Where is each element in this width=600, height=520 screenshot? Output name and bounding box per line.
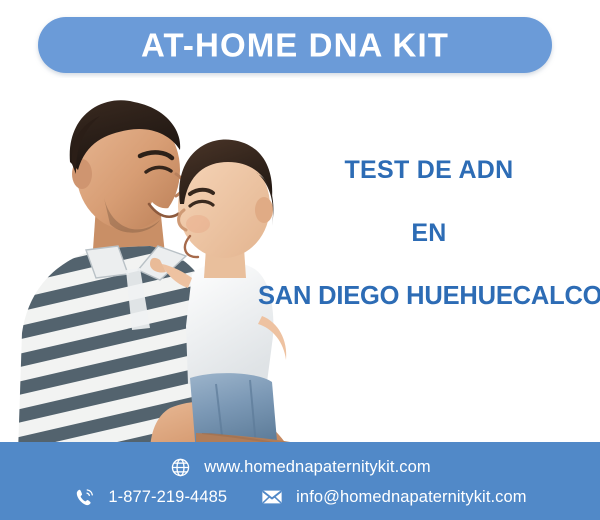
- footer-bar: www.homednapaternitykit.com 1-877-219-44…: [0, 442, 600, 520]
- phone-label: 1-877-219-4485: [108, 488, 227, 507]
- footer-row-phone-email: 1-877-219-4485 info@homednapaternitykit.…: [0, 486, 600, 508]
- poster-canvas: AT-HOME DNA KIT: [0, 0, 600, 520]
- envelope-icon: [261, 486, 283, 508]
- email-label: info@homednapaternitykit.com: [296, 488, 527, 507]
- globe-icon: [169, 456, 191, 478]
- phone-icon: [73, 486, 95, 508]
- contact-website[interactable]: www.homednapaternitykit.com: [169, 456, 430, 478]
- title-pill: AT-HOME DNA KIT: [38, 17, 552, 73]
- footer-row-website: www.homednapaternitykit.com: [0, 456, 600, 478]
- website-label: www.homednapaternitykit.com: [204, 458, 430, 477]
- headline-line-3: SAN DIEGO HUEHUECALCO: [258, 284, 600, 310]
- headline-line-1: TEST DE ADN: [258, 158, 600, 183]
- headline-block: TEST DE ADN EN SAN DIEGO HUEHUECALCO: [258, 158, 600, 310]
- contact-email[interactable]: info@homednapaternitykit.com: [261, 486, 527, 508]
- contact-phone[interactable]: 1-877-219-4485: [73, 486, 227, 508]
- father-and-child-photo: [0, 78, 300, 453]
- header-band: AT-HOME DNA KIT: [0, 0, 600, 88]
- page-title: AT-HOME DNA KIT: [38, 29, 552, 62]
- headline-line-2: EN: [258, 221, 600, 246]
